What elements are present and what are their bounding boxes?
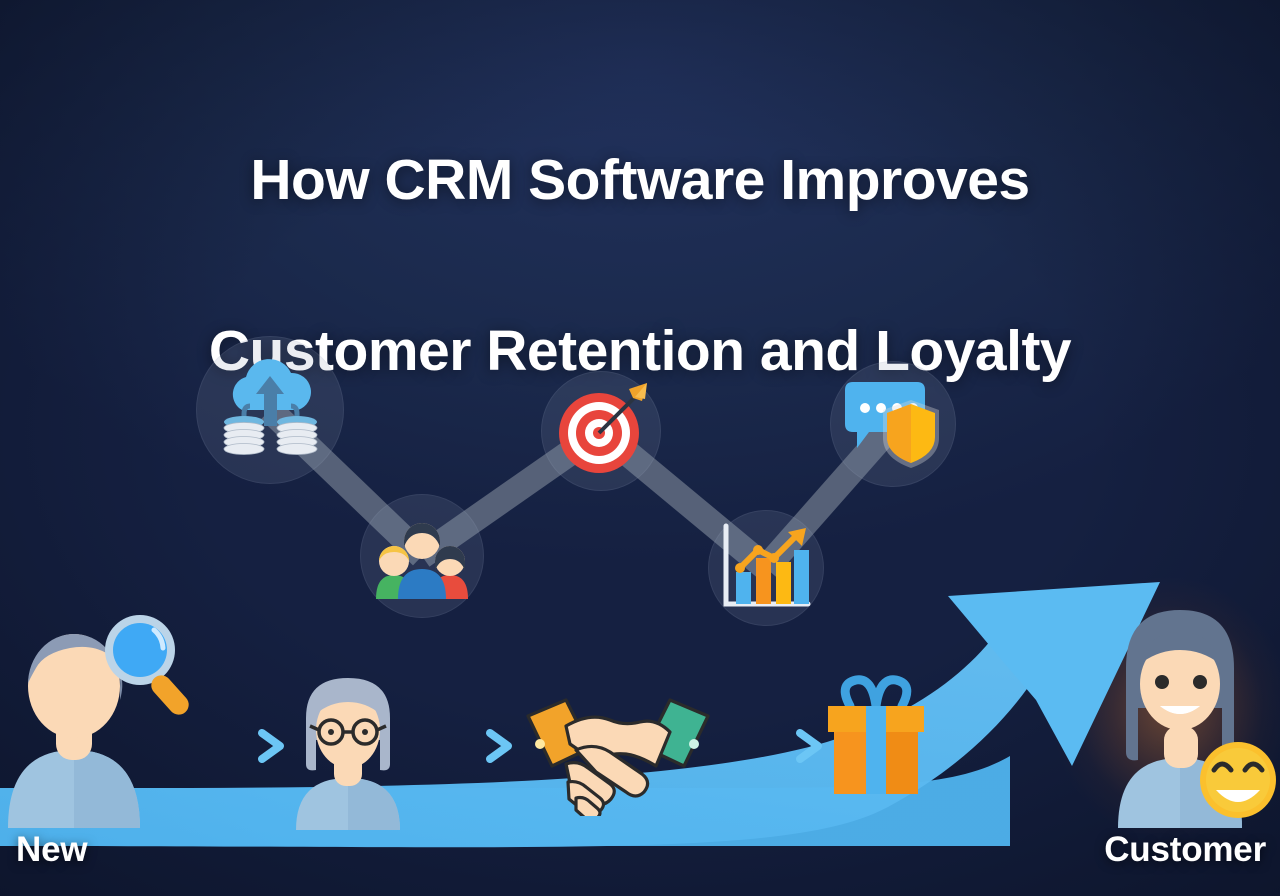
cloud-upload-database-icon [214,358,326,462]
infographic-canvas: How CRM Software Improves Customer Reten… [0,0,1280,896]
node-targeting[interactable] [541,371,661,491]
eye-left [1155,675,1169,689]
journey-arrow-3 [716,728,826,764]
magnifier-icon [105,615,193,719]
handshake-icon [518,686,718,816]
node-cloud-data[interactable] [196,336,344,484]
customer-journey [0,560,1280,896]
journey-step-loyal[interactable] [1104,598,1280,828]
target-arrow-icon [549,379,653,483]
label-customer: Customer [1104,830,1266,870]
label-new: New [16,830,87,870]
database-right [277,416,317,455]
eye-right [1193,675,1207,689]
shield-icon [883,400,939,468]
database-left [224,416,264,455]
journey-step-reward[interactable] [816,670,936,800]
journey-arrow-2 [406,728,516,764]
person-with-glasses-icon [288,670,408,830]
node-secure-chat[interactable] [830,361,956,487]
journey-arrow-1 [178,728,288,764]
journey-step-lead[interactable] [288,670,408,830]
chat-shield-icon [839,378,947,470]
smiley-badge-icon [1200,742,1276,818]
happy-customer-icon [1104,598,1280,828]
journey-step-deal[interactable] [518,686,718,816]
journey-step-prospect[interactable] [4,588,214,828]
page-title-line-1: How CRM Software Improves [60,138,1220,224]
person-with-magnifier-icon [4,588,214,828]
gift-box-icon [816,670,936,800]
